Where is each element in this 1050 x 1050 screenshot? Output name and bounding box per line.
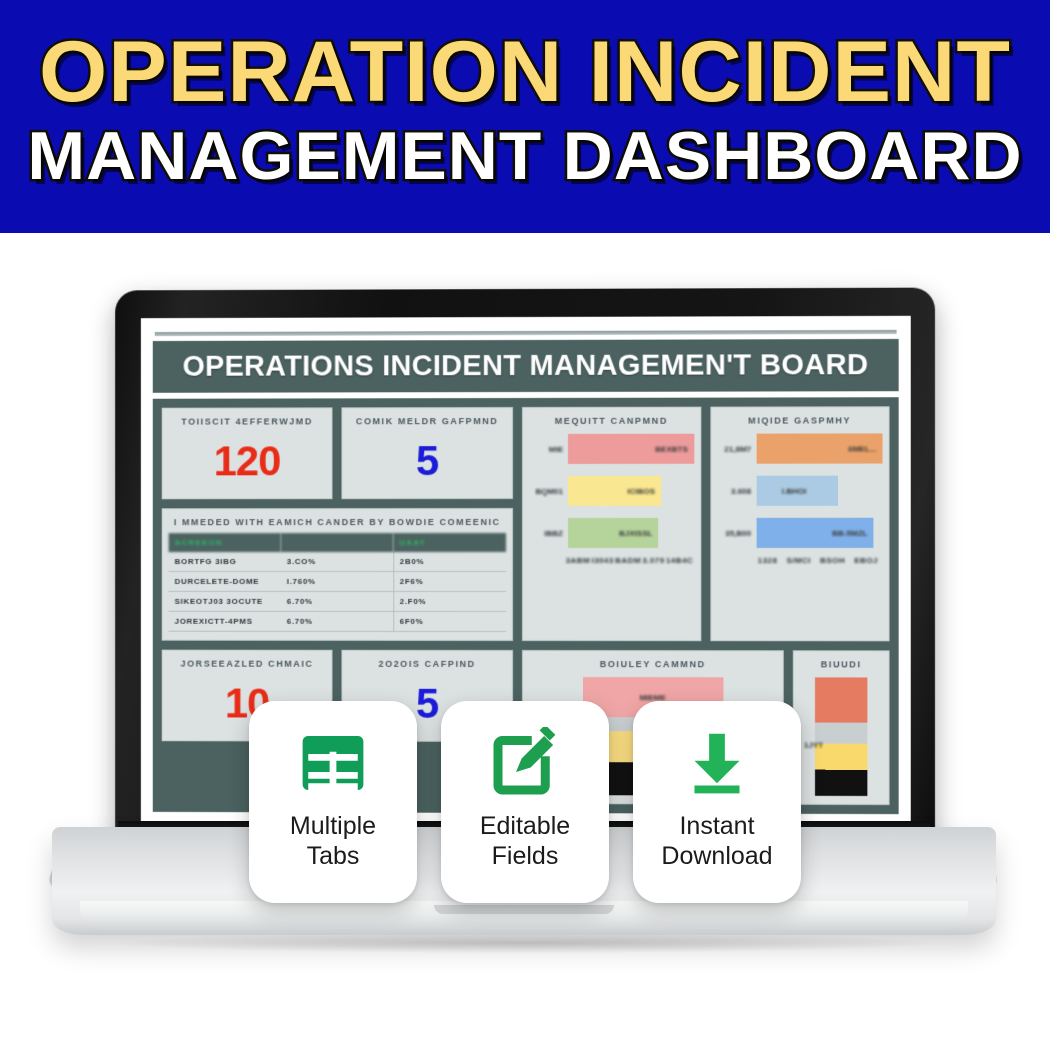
chart-title: BIUUDI xyxy=(800,659,883,669)
table-cell: SIKEOTJ03 3OCUTE xyxy=(169,591,281,611)
chart-title: BOIULEY CAMMND xyxy=(529,659,777,669)
bar-track: BB-5MZL xyxy=(756,518,882,548)
axis-tick: EBOJ xyxy=(854,556,878,565)
table-row: BORTFG 3IBG 3.CO% 2B0% xyxy=(169,552,506,571)
feature-badge-multiple-tabs[interactable]: Multiple Tabs xyxy=(249,701,417,903)
bar-label: 21,8M7 xyxy=(717,444,751,453)
edit-pencil-square-icon xyxy=(489,727,561,799)
axis-tick: I3043 xyxy=(592,556,614,565)
chart-title: MIQIDE GASPMHY xyxy=(717,415,883,425)
table-cell: JOREXICTT-4PMS xyxy=(169,611,281,631)
table-cell: 3.CO% xyxy=(281,552,393,571)
feature-badge-label: Multiple Tabs xyxy=(290,811,376,871)
bar-row: 35,B00 BB-5MZL xyxy=(717,518,883,548)
kpi-value: 120 xyxy=(214,440,281,482)
axis-tick: 14B4C xyxy=(666,556,693,565)
table-grid-icon xyxy=(297,727,369,799)
incident-breakdown-table-card[interactable]: I MMEDED WITH EAMICH CANDER BY BOWDIE CO… xyxy=(162,508,513,641)
bar-label: 3.608 xyxy=(717,486,751,495)
bar-fill: BJXISSL xyxy=(568,518,659,548)
table-row: JOREXICTT-4PMS 6.70% 6F0% xyxy=(169,611,506,631)
chart-card-aging-bars[interactable]: MIQIDE GASPMHY 21,8M7 6MEL... xyxy=(710,406,890,641)
bar-value-label: ICIBOS xyxy=(627,486,655,495)
bar-row: 3.608 I.BHOI xyxy=(717,476,883,506)
table-header-cell: UAAY xyxy=(393,533,506,552)
bar-label: BQM01 xyxy=(529,486,563,495)
dashboard-top-rule xyxy=(155,330,897,336)
chart-x-axis: 3ABM I3043 BADM 3.079 14B4C xyxy=(529,556,694,565)
banner-title-line-2: MANAGEMENT DASHBOARD xyxy=(0,117,1050,195)
incident-breakdown-table: ACREEON UAAY BORTFG 3IBG xyxy=(169,533,506,632)
table-head: ACREEON UAAY xyxy=(169,533,506,552)
bar-track: I.BHOI xyxy=(756,476,882,506)
poster-root: OPERATION INCIDENT MANAGEMENT DASHBOARD xyxy=(0,0,1050,1050)
bar-track: 6MEL... xyxy=(756,433,882,463)
table-cell: I.760% xyxy=(281,571,393,591)
bar-track: BEXBTS xyxy=(568,434,694,464)
dashboard-left-column: TOIISCIT 4EFFERWJMD 120 COMIK MELDR GAFP… xyxy=(162,407,513,641)
table-header-cell: ACREEON xyxy=(169,533,281,552)
bar-row: 21,8M7 6MEL... xyxy=(717,433,883,463)
table-caption: I MMEDED WITH EAMICH CANDER BY BOWDIE CO… xyxy=(169,517,506,527)
badge-label-line-2: Download xyxy=(661,841,772,871)
badge-label-line-1: Instant xyxy=(661,811,772,841)
bar-value-label: 6MEL... xyxy=(848,444,876,453)
badge-label-line-1: Multiple xyxy=(290,811,376,841)
kpi-title: JORSEEAZLED CHMAIC xyxy=(181,659,314,669)
bar-value-label: BEXBTS xyxy=(655,444,688,453)
table-header-cell xyxy=(281,533,393,552)
bar-fill: I.BHOI xyxy=(756,476,838,506)
table-cell: DURCELETE-DOME xyxy=(169,571,281,591)
table-row: SIKEOTJ03 3OCUTE 6.70% 2.F0% xyxy=(169,591,506,611)
banner-title-line-1: OPERATION INCIDENT xyxy=(0,24,1050,120)
banner-text-block: OPERATION INCIDENT MANAGEMENT DASHBOARD xyxy=(0,0,1050,233)
download-arrow-icon xyxy=(681,727,753,799)
kpi-title: 2O2OIS CAFPIND xyxy=(379,659,476,669)
dashboard-board-title: OPERATIONS INCIDENT MANAGEMEN'T BOARD xyxy=(153,339,899,393)
table-cell: 6F0% xyxy=(393,611,506,631)
table-row: DURCELETE-DOME I.760% 2F6% xyxy=(169,571,506,591)
axis-tick: S/MCI xyxy=(786,556,810,565)
axis-tick: 3.079 xyxy=(642,556,664,565)
horizontal-bar-group: 21,8M7 6MEL... 3.608 xyxy=(717,433,883,548)
bar-fill: BEXBTS xyxy=(568,434,694,464)
laptop-mockup: OPERATIONS INCIDENT MANAGEMEN'T BOARD TO… xyxy=(0,233,1050,1050)
kpi-row-top: TOIISCIT 4EFFERWJMD 120 COMIK MELDR GAFP… xyxy=(162,407,513,499)
axis-tick: 3ABM xyxy=(566,556,590,565)
bar-fill: ICIBOS xyxy=(568,476,661,506)
bar-row: IBBZ BJXISSL xyxy=(529,518,694,548)
kpi-value: 5 xyxy=(416,440,438,482)
kpi-title: TOIISCIT 4EFFERWJMD xyxy=(181,416,313,426)
table-header-row: ACREEON UAAY xyxy=(169,533,506,552)
bar-fill: BB-5MZL xyxy=(756,518,874,548)
chart-card-severity-bars[interactable]: MEQUITT CANPMND MIE BEXBTS xyxy=(522,407,701,642)
feature-badge-editable-fields[interactable]: Editable Fields xyxy=(441,701,609,903)
table-cell: BORTFG 3IBG xyxy=(169,552,281,571)
chart-title: MEQUITT CANPMND xyxy=(529,416,694,426)
chart-x-axis: 1328 S/MCI BSOH EBOJ xyxy=(717,556,883,565)
table-cell: 6.70% xyxy=(281,611,393,631)
feature-badge-label: Editable Fields xyxy=(480,811,570,871)
kpi-card-total-incidents[interactable]: TOIISCIT 4EFFERWJMD 120 xyxy=(162,407,333,499)
bar-track: BJXISSL xyxy=(568,518,694,548)
feature-badge-label: Instant Download xyxy=(661,811,772,871)
axis-tick: 1328 xyxy=(758,556,778,565)
bar-label: 35,B00 xyxy=(717,528,751,537)
laptop-floor-shadow xyxy=(120,933,930,953)
badge-label-line-2: Tabs xyxy=(290,841,376,871)
horizontal-bar-group: MIE BEXBTS BQM01 xyxy=(529,434,694,548)
axis-tick: BADM xyxy=(615,556,641,565)
bar-value-label: BJXISSL xyxy=(619,528,652,537)
bar-row: MIE BEXBTS xyxy=(529,434,694,464)
feature-badge-instant-download[interactable]: Instant Download xyxy=(633,701,801,903)
axis-tick: BSOH xyxy=(820,556,845,565)
badge-label-line-1: Editable xyxy=(480,811,570,841)
table-cell: 2F6% xyxy=(393,571,506,591)
kpi-title: COMIK MELDR GAFPMND xyxy=(356,416,499,426)
table-cell: 6.70% xyxy=(281,591,393,611)
bar-value-label: BB-5MZL xyxy=(832,528,867,537)
bar-fill: 6MEL... xyxy=(756,433,882,463)
table-body: BORTFG 3IBG 3.CO% 2B0% DURCELETE-DOME I.… xyxy=(169,552,506,631)
table-cell: 2B0% xyxy=(393,552,506,571)
bar-track: ICIBOS xyxy=(568,476,694,506)
feature-badge-row: Multiple Tabs Editable Fields xyxy=(0,701,1050,921)
bar-label: IBBZ xyxy=(529,528,563,537)
poster-banner: OPERATION INCIDENT MANAGEMENT DASHBOARD xyxy=(0,0,1050,233)
table-cell: 2.F0% xyxy=(393,591,506,611)
bar-row: BQM01 ICIBOS xyxy=(529,476,694,506)
badge-label-line-2: Fields xyxy=(480,841,570,871)
bar-label: MIE xyxy=(529,444,563,453)
dashboard-row-1: TOIISCIT 4EFFERWJMD 120 COMIK MELDR GAFP… xyxy=(162,406,890,641)
bar-value-label: I.BHOI xyxy=(782,486,807,495)
kpi-card-open-critical[interactable]: COMIK MELDR GAFPMND 5 xyxy=(341,407,513,499)
